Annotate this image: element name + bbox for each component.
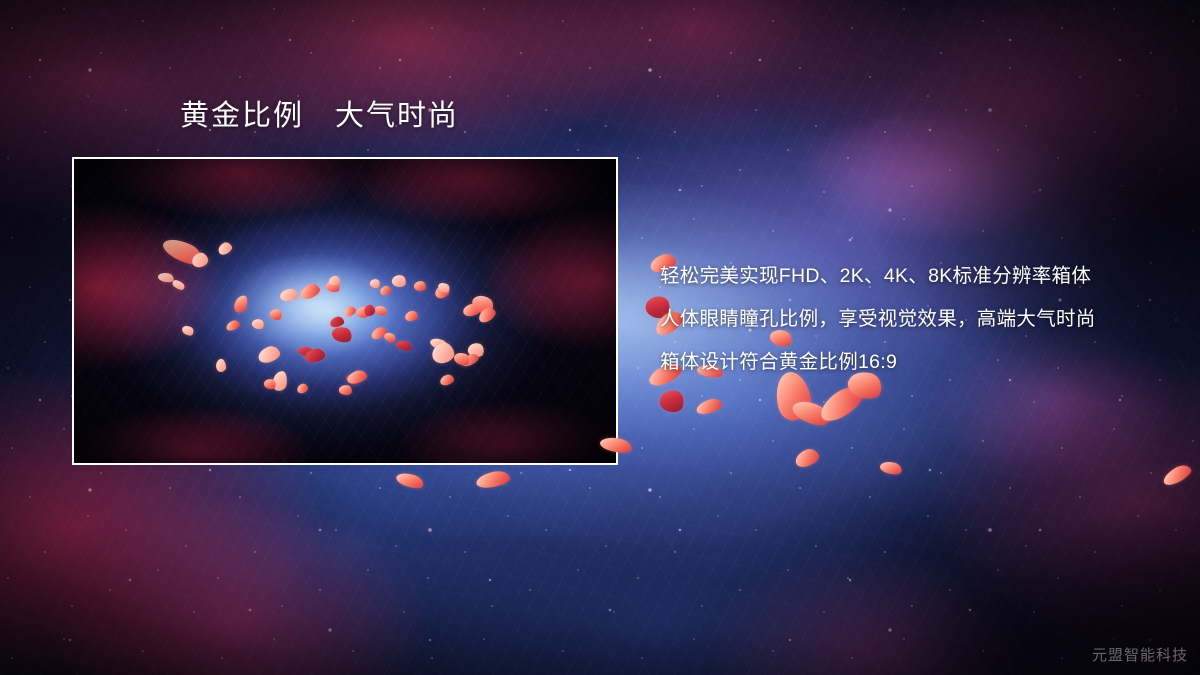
feature-line-3: 箱体设计符合黄金比例16:9 xyxy=(660,341,1180,384)
presentation-slide: 黄金比例 大气时尚 xyxy=(0,0,1200,675)
watermark: 元盟智能科技 xyxy=(1092,644,1188,665)
framed-image[interactable] xyxy=(72,157,618,465)
feature-text-block: 轻松完美实现FHD、2K、4K、8K标准分辨率箱体 人体眼睛瞳孔比例，享受视觉效… xyxy=(660,255,1180,384)
framed-image-vignette xyxy=(74,159,616,463)
page-title: 黄金比例 大气时尚 xyxy=(180,101,459,133)
feature-line-2: 人体眼睛瞳孔比例，享受视觉效果，高端大气时尚 xyxy=(660,298,1180,341)
petal-icon xyxy=(657,387,686,415)
feature-line-1: 轻松完美实现FHD、2K、4K、8K标准分辨率箱体 xyxy=(660,255,1180,298)
petal-icon xyxy=(815,382,867,427)
petal-icon xyxy=(879,460,903,477)
petal-icon xyxy=(793,446,821,469)
petal-icon xyxy=(790,396,833,430)
framed-image-content xyxy=(74,159,616,463)
petal-icon xyxy=(395,470,426,491)
petal-icon xyxy=(475,469,511,490)
petal-icon xyxy=(695,397,724,417)
petal-icon xyxy=(1160,462,1193,488)
